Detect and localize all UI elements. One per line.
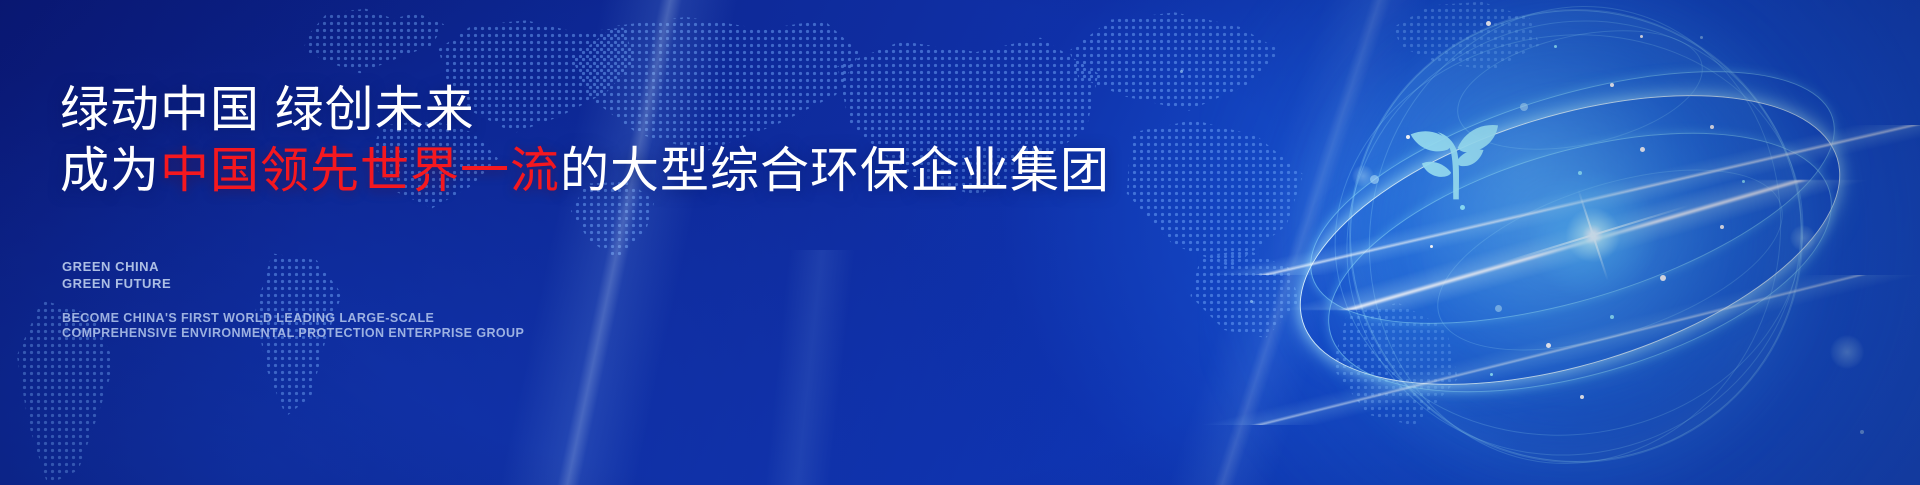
particle: [1710, 125, 1714, 129]
particle: [1486, 21, 1491, 26]
particle: [1660, 275, 1666, 281]
bokeh-orb: [1352, 165, 1374, 187]
particle: [1460, 205, 1465, 210]
bokeh-orb: [1830, 335, 1864, 369]
particle: [1640, 147, 1645, 152]
particle: [1546, 343, 1551, 348]
headline: 绿动中国 绿创未来 成为中国领先世界一流的大型综合环保企业集团: [60, 80, 1060, 202]
particle: [1250, 300, 1253, 303]
subline: BECOME CHINA'S FIRST WORLD LEADING LARGE…: [62, 311, 524, 341]
banner-copy: 绿动中国 绿创未来 成为中国领先世界一流的大型综合环保企业集团 GREEN CH…: [60, 0, 1120, 485]
particle: [1640, 35, 1643, 38]
particle: [1180, 70, 1183, 73]
particle: [1520, 103, 1528, 111]
subline-line-2: COMPREHENSIVE ENVIRONMENTAL PROTECTION E…: [62, 326, 524, 341]
tagline: GREEN CHINA GREEN FUTURE: [62, 258, 171, 292]
particle: [1742, 180, 1745, 183]
particle: [1430, 245, 1433, 248]
particle: [1580, 395, 1584, 399]
particle: [1610, 83, 1614, 87]
particle: [1610, 315, 1614, 319]
particle: [1860, 430, 1864, 434]
tagline-line-1: GREEN CHINA: [62, 258, 171, 275]
globe-graphic: [1310, 0, 1870, 485]
headline-highlight: 中国领先世界一流: [160, 144, 560, 198]
sprout-leaf-icon: [1395, 103, 1507, 215]
bokeh-orb: [1790, 225, 1816, 251]
particle: [1495, 305, 1502, 312]
particle: [1720, 225, 1724, 229]
particle: [1406, 135, 1410, 139]
headline-prefix: 成为: [60, 144, 160, 198]
headline-line-1: 绿动中国 绿创未来: [60, 83, 475, 137]
light-burst-flare: [1518, 160, 1668, 310]
particle: [1578, 171, 1582, 175]
subline-line-1: BECOME CHINA'S FIRST WORLD LEADING LARGE…: [62, 311, 524, 326]
particle: [1554, 45, 1557, 48]
headline-line-2: 成为中国领先世界一流的大型综合环保企业集团: [60, 141, 1060, 202]
headline-suffix: 的大型综合环保企业集团: [560, 144, 1110, 198]
hero-banner: 绿动中国 绿创未来 成为中国领先世界一流的大型综合环保企业集团 GREEN CH…: [0, 0, 1920, 485]
particle: [1490, 373, 1493, 376]
tagline-line-2: GREEN FUTURE: [62, 275, 171, 292]
particle: [1700, 36, 1703, 39]
